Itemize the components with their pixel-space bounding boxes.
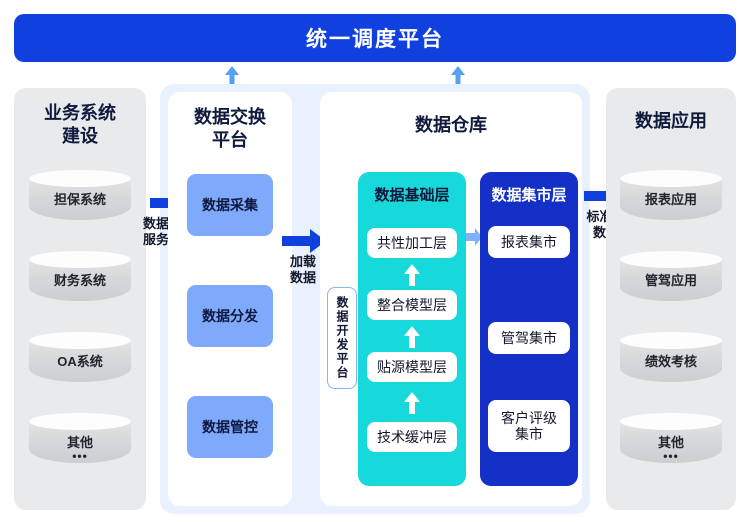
group-data-mart-layer: 数据集市层 报表集市 管驾集市 客户评级 集市 (480, 172, 578, 486)
up-arrow-1 (404, 264, 420, 286)
cylinder-label: 担保系统 (29, 189, 131, 208)
banner-title: 统一调度平台 (306, 23, 444, 53)
box-data-governance: 数据管控 (187, 396, 273, 458)
panel-title-exchange: 数据交换 平台 (168, 106, 292, 151)
layer-source-model: 贴源模型层 (367, 352, 457, 382)
cylinder-label: 财务系统 (29, 270, 131, 289)
unified-scheduling-platform-banner: 统一调度平台 (14, 14, 736, 62)
panel-data-exchange: 数据交换 平台 数据采集 数据分发 数据管控 (168, 92, 292, 506)
panel-data-application: 数据应用 报表应用 管驾应用 绩效考核 其他 ••• (606, 88, 736, 510)
box-label: 数据采集 (202, 195, 258, 215)
mart-customer-rating: 客户评级 集市 (488, 400, 570, 452)
cylinder-business-3: 其他 ••• (29, 413, 131, 467)
up-arrow-3 (404, 392, 420, 414)
panel-title-exchange-line1: 数据交换 (168, 106, 292, 129)
mart-label-line1: 客户评级 (501, 410, 557, 426)
panel-title-business-line2: 建设 (14, 125, 146, 148)
layer-technical-buffer: 技术缓冲层 (367, 422, 457, 452)
group-header-foundation: 数据基础层 (358, 184, 466, 205)
panel-title-application-line1: 数据应用 (606, 110, 736, 133)
layer-integration-model: 整合模型层 (367, 290, 457, 320)
tag-data-development-platform: 数据开发平台 (327, 287, 357, 389)
cylinder-label: 报表应用 (620, 189, 722, 208)
mart-management-cockpit: 管驾集市 (488, 322, 570, 354)
box-data-collection: 数据采集 (187, 174, 273, 236)
cylinder-top (620, 251, 722, 268)
panel-title-warehouse-line1: 数据仓库 (320, 114, 582, 137)
panel-title-exchange-line2: 平台 (168, 129, 292, 152)
mart-report: 报表集市 (488, 226, 570, 258)
cylinder-application-1: 管驾应用 (620, 251, 722, 305)
up-arrow-2 (404, 326, 420, 348)
layer-label: 共性加工层 (377, 233, 447, 253)
group-header-mart: 数据集市层 (480, 184, 578, 205)
cylinder-top (29, 170, 131, 187)
mart-label: 管驾集市 (501, 330, 557, 346)
diagram-canvas: 统一调度平台 业务系统 建设 担保系统 财务系统 (0, 0, 750, 522)
panel-title-application: 数据应用 (606, 110, 736, 133)
cylinder-top (29, 251, 131, 268)
cylinder-application-3: 其他 ••• (620, 413, 722, 467)
cylinder-label: 绩效考核 (620, 351, 722, 370)
group-data-foundation-layer: 数据基础层 共性加工层 整合模型层 贴源模型层 技术缓冲层 (358, 172, 466, 486)
mart-label: 报表集市 (501, 234, 557, 250)
panel-title-warehouse: 数据仓库 (320, 114, 582, 137)
box-data-distribution: 数据分发 (187, 285, 273, 347)
panel-title-business-line1: 业务系统 (14, 102, 146, 125)
layer-label: 贴源模型层 (377, 357, 447, 377)
panel-title-business: 业务系统 建设 (14, 102, 146, 147)
panel-business-system: 业务系统 建设 担保系统 财务系统 OA系统 其他 ••• (14, 88, 146, 510)
mart-label-line2: 集市 (515, 426, 543, 442)
cylinder-application-0: 报表应用 (620, 170, 722, 224)
cylinder-label: OA系统 (29, 351, 131, 370)
cylinder-top (620, 413, 722, 430)
box-label: 数据分发 (202, 306, 258, 326)
layer-label: 技术缓冲层 (377, 427, 447, 447)
cylinder-business-0: 担保系统 (29, 170, 131, 224)
cylinder-top (29, 413, 131, 430)
box-label: 数据管控 (202, 417, 258, 437)
cylinder-dots: ••• (29, 449, 131, 463)
cylinder-business-2: OA系统 (29, 332, 131, 386)
cylinder-dots: ••• (620, 449, 722, 463)
layer-common-processing: 共性加工层 (367, 228, 457, 258)
tag-label: 数据开发平台 (336, 296, 348, 380)
cylinder-top (620, 170, 722, 187)
cylinder-top (620, 332, 722, 349)
cylinder-business-1: 财务系统 (29, 251, 131, 305)
cylinder-application-2: 绩效考核 (620, 332, 722, 386)
cylinder-label: 管驾应用 (620, 270, 722, 289)
cylinder-top (29, 332, 131, 349)
layer-label: 整合模型层 (377, 295, 447, 315)
